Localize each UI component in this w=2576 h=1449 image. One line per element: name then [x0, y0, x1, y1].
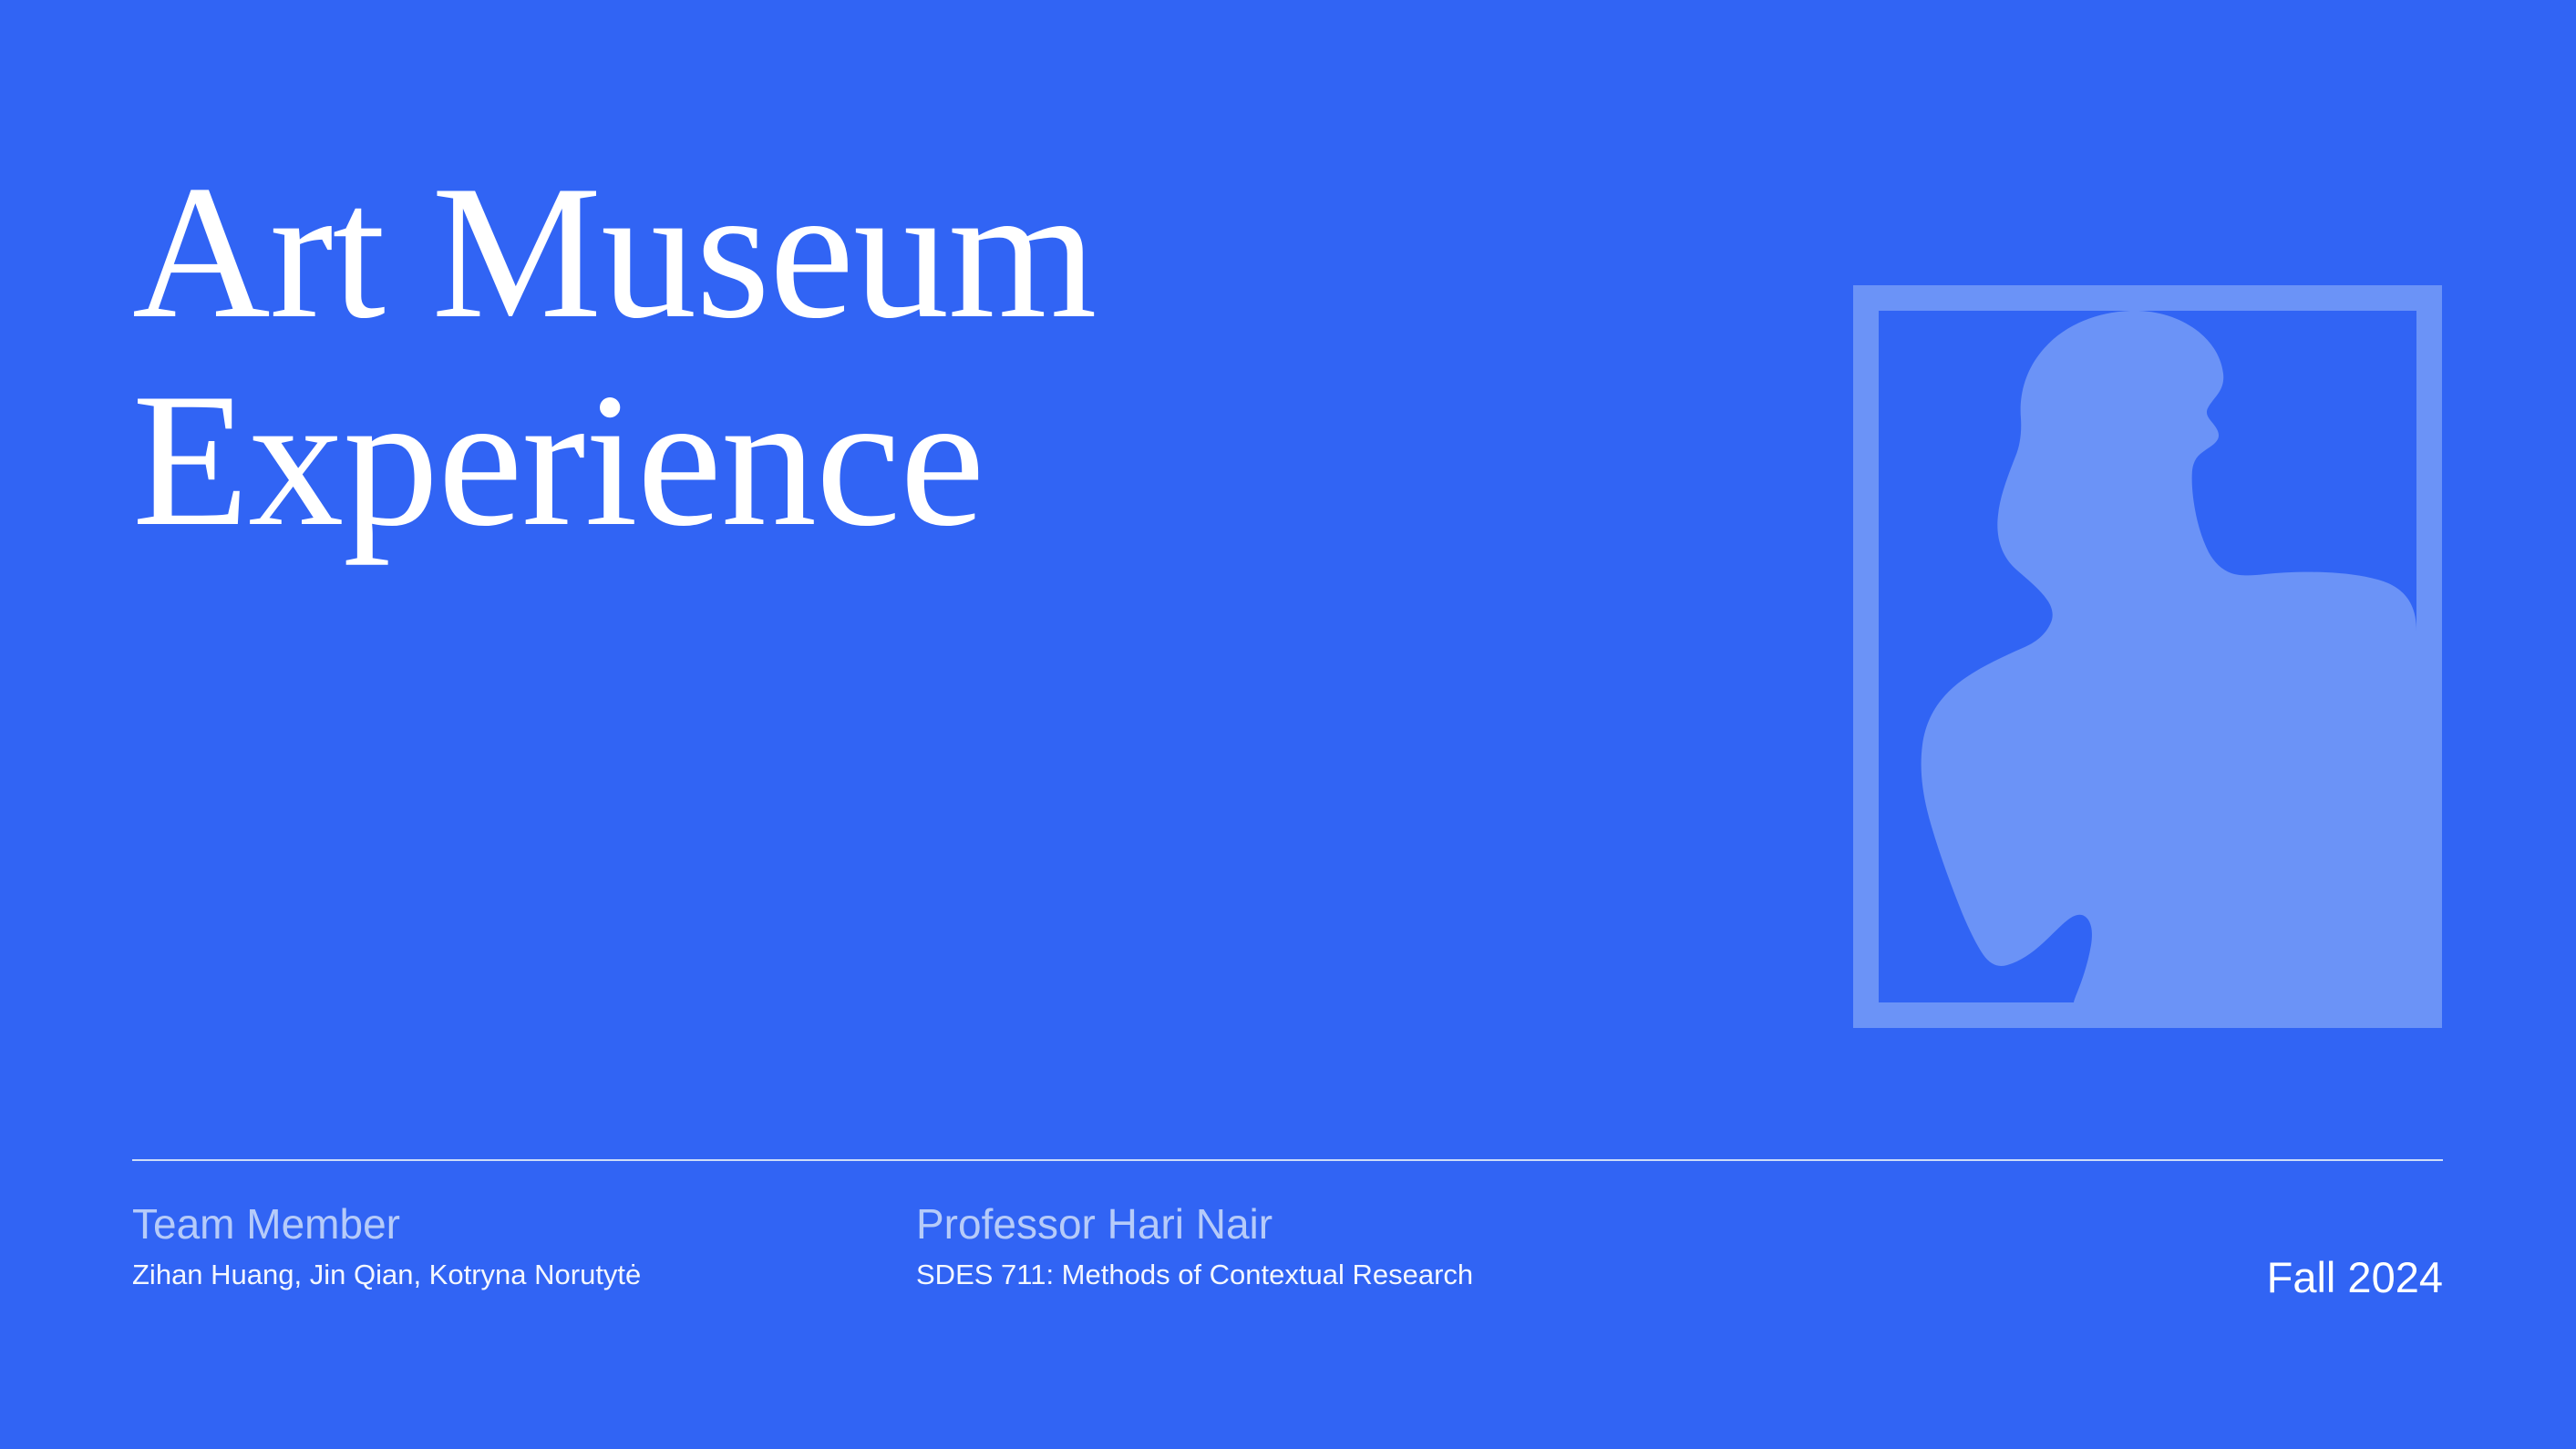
title-slide: Art Museum Experience Team Member Zihan …	[0, 0, 2576, 1449]
team-member-label: Team Member	[132, 1201, 641, 1249]
page-title: Art Museum Experience	[132, 159, 1591, 555]
footer-team-block: Team Member Zihan Huang, Jin Qian, Kotry…	[132, 1201, 641, 1291]
team-member-names: Zihan Huang, Jin Qian, Kotryna Norutytė	[132, 1258, 641, 1291]
footer-professor-block: Professor Hari Nair SDES 711: Methods of…	[916, 1201, 1473, 1291]
footer-divider	[132, 1159, 2443, 1161]
professor-name-label: Professor Hari Nair	[916, 1201, 1473, 1249]
footer: Team Member Zihan Huang, Jin Qian, Kotry…	[132, 1201, 2443, 1329]
artwork-mat	[1879, 311, 2416, 1002]
term-label: Fall 2024	[2267, 1252, 2443, 1302]
framed-artwork	[1853, 285, 2442, 1028]
course-name: SDES 711: Methods of Contextual Research	[916, 1258, 1473, 1291]
title-line-1: Art Museum	[132, 159, 1591, 347]
classical-sculpture-bust-silhouette-icon	[1879, 311, 2416, 1002]
title-line-2: Experience	[132, 367, 1591, 555]
